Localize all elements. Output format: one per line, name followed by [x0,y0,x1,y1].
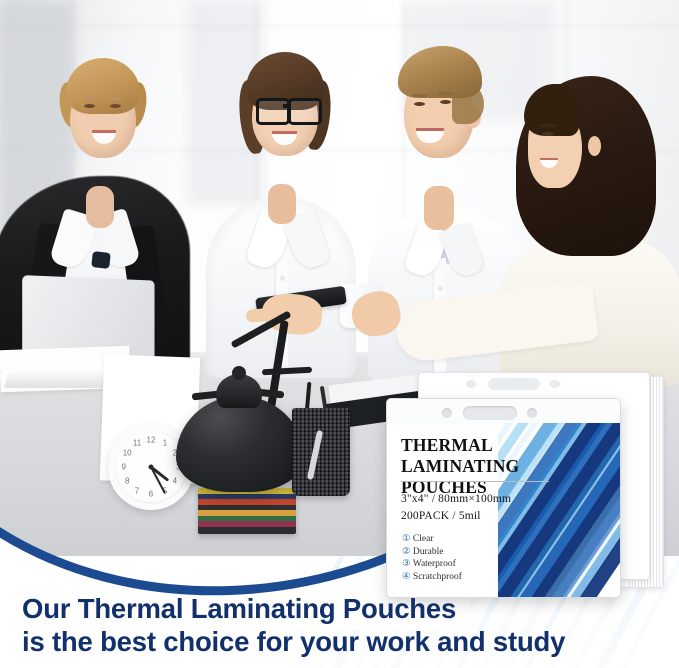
title-divider [401,481,549,482]
card-title-line2: LAMINATING POUCHES [401,456,571,498]
pouch-hole [550,380,560,388]
shirt-button [438,286,443,291]
shirt-button [280,276,285,281]
product-marketing-image: 12 1 2 3 4 5 6 7 8 9 10 11 [0,0,679,668]
card-title: THERMAL LAMINATING POUCHES [401,435,571,498]
window-mullion [0,26,679,27]
neck [86,186,114,228]
punch-hole-icon [527,408,537,418]
ear [588,136,601,156]
feature-label: Scratchproof [413,572,462,582]
hair [66,58,140,114]
eye [84,104,95,108]
eyebrow [412,94,427,97]
product-card: THERMAL LAMINATING POUCHES 3"x4" / 80mm×… [386,398,621,598]
feature-marker: ③ [402,559,413,569]
eye [110,104,121,108]
lamp-knob [232,366,246,380]
eye [542,132,554,136]
feature-label: Waterproof [413,559,456,569]
eyebrow [109,97,122,100]
badge-slot [463,406,517,420]
eyeglasses-lens [288,98,322,125]
feature-marker: ① [402,534,413,544]
eyeglasses-bridge [283,104,290,108]
feature-item: ② Durable [402,546,462,559]
tie-knot [91,251,111,269]
tagline-line1: Our Thermal Laminating Pouches [22,592,662,625]
pouch-hole [466,380,476,388]
eyebrow [438,92,453,95]
neck [424,186,454,230]
feature-label: Clear [413,534,434,544]
tagline: Our Thermal Laminating Pouches is the be… [22,592,662,658]
feature-marker: ② [402,547,413,557]
tagline-line2: is the best choice for your work and stu… [22,625,662,658]
feature-item: ④ Scratchproof [402,571,462,584]
pouch-slot [488,378,540,390]
feature-label: Durable [413,547,444,557]
card-title-line1: THERMAL [401,435,571,456]
eyebrow [540,124,556,127]
eyeglasses-lens [256,98,290,125]
feature-list: ① Clear② Durable③ Waterproof④ Scratchpro… [402,533,462,583]
neck [268,184,296,224]
punch-hole-icon [442,408,452,418]
eye [440,100,451,104]
feature-marker: ④ [402,572,413,582]
feature-item: ① Clear [402,533,462,546]
feature-item: ③ Waterproof [402,558,462,571]
spec-pack: 200PACK / 5mil [401,510,481,522]
spec-size: 3"x4" / 80mm×100mm [401,493,511,505]
eyebrow [83,97,96,100]
eye [414,102,425,106]
